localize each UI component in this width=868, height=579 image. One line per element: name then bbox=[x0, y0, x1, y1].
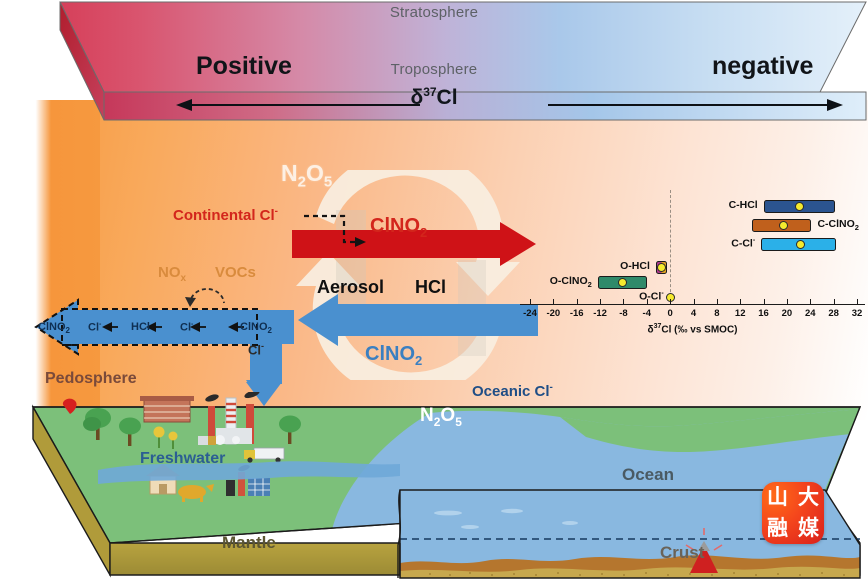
isotope-range-chart: C-HClC-ClNO2C-Cl-O-HClO-ClNO2O-Cl- δ37Cl… bbox=[520, 186, 865, 338]
series-label-c-clno2: C-ClNO2 bbox=[817, 218, 859, 232]
chain-item-clno2-right: ClNO2 bbox=[240, 321, 272, 335]
range-marker-dot bbox=[657, 263, 666, 272]
x-axis-tick bbox=[810, 299, 811, 304]
chain-item-chloride-2: Cl- bbox=[180, 321, 193, 334]
charge-sign: - bbox=[261, 341, 264, 351]
oceanic-chloride-label: Oceanic Cl- bbox=[472, 382, 553, 400]
x-axis-tick bbox=[670, 299, 671, 304]
clno2-text: ClNO bbox=[365, 343, 415, 365]
x-axis-tick bbox=[740, 299, 741, 304]
x-axis-tick bbox=[577, 299, 578, 304]
positive-label: Positive bbox=[196, 52, 292, 81]
aerosol-label: Aerosol bbox=[317, 277, 384, 298]
chain-item-clno2-left: ClNO2 bbox=[38, 321, 70, 335]
n-symbol: N bbox=[281, 160, 298, 186]
x-axis-title: δ37Cl (‰ vs SMOC) bbox=[520, 323, 865, 335]
nox-text: NO bbox=[158, 264, 181, 281]
x-axis-tick bbox=[717, 299, 718, 304]
o-count: 5 bbox=[324, 174, 332, 191]
o-count: 5 bbox=[455, 415, 462, 429]
clno2-count: 2 bbox=[415, 353, 422, 368]
n-symbol: N bbox=[420, 405, 434, 426]
freshwater-label: Freshwater bbox=[140, 450, 225, 468]
land-scenery-icons bbox=[40, 392, 440, 512]
n2o5-atmosphere-label: N2O5 bbox=[281, 160, 332, 191]
nox-label: NOx bbox=[158, 264, 186, 284]
range-marker-dot bbox=[779, 221, 788, 230]
n2o5-ocean-label: N2O5 bbox=[420, 405, 462, 429]
axis-units: Cl (‰ vs SMOC) bbox=[661, 324, 737, 335]
watermark-char-4: 媒 bbox=[798, 518, 819, 539]
watermark-char-1: 山 bbox=[767, 487, 788, 508]
mantle-label: Mantle bbox=[222, 533, 276, 553]
watermark-logo: 山 大 融 媒 bbox=[762, 482, 824, 544]
x-axis-tick bbox=[553, 299, 554, 304]
stratosphere-label: Stratosphere bbox=[0, 4, 868, 21]
clno2-text: ClNO bbox=[370, 215, 420, 237]
x-axis-tick bbox=[623, 299, 624, 304]
series-label-c-cl: C-Cl- bbox=[731, 237, 755, 250]
clno2-red-label: ClNO2 bbox=[370, 215, 427, 240]
delta-mass-number: 37 bbox=[423, 85, 436, 99]
continental-chloride-label: Continental Cl- bbox=[173, 206, 278, 224]
x-axis-tick bbox=[764, 299, 765, 304]
delta-37cl-axis-label: δ37Cl bbox=[0, 85, 868, 110]
clno2-count: 2 bbox=[420, 225, 427, 240]
watermark-char-2: 大 bbox=[798, 487, 819, 508]
x-axis-tick bbox=[530, 299, 531, 304]
x-axis-tick bbox=[857, 299, 858, 304]
x-axis-tick bbox=[647, 299, 648, 304]
ocean-label: Ocean bbox=[622, 465, 674, 485]
chain-item-hcl: HCl bbox=[131, 321, 150, 333]
chart-plot-area: C-HClC-ClNO2C-Cl-O-HClO-ClNO2O-Cl- bbox=[520, 186, 865, 298]
negative-label: negative bbox=[712, 52, 813, 81]
x-axis-tick bbox=[787, 299, 788, 304]
series-label-o-hcl: O-HCl bbox=[620, 260, 650, 272]
continental-text: Continental Cl bbox=[173, 207, 275, 224]
x-axis-tick-label: 32 bbox=[843, 308, 868, 319]
charge-sign: - bbox=[275, 206, 278, 217]
o-symbol: O bbox=[440, 405, 455, 426]
zero-reference-line bbox=[670, 190, 671, 302]
series-label-o-clno2: O-ClNO2 bbox=[550, 275, 592, 289]
delta-symbol: δ bbox=[410, 86, 423, 109]
chain-item-chloride-1: Cl- bbox=[88, 321, 101, 334]
series-label-o-cl: O-Cl- bbox=[639, 290, 664, 303]
charge-sign: - bbox=[550, 382, 553, 393]
oceanic-text: Oceanic Cl bbox=[472, 383, 550, 400]
o-symbol: O bbox=[306, 160, 324, 186]
x-axis-line bbox=[520, 304, 865, 305]
x-axis-tick bbox=[694, 299, 695, 304]
series-label-c-hcl: C-HCl bbox=[729, 199, 758, 211]
watermark-char-3: 融 bbox=[767, 518, 788, 539]
n-count: 2 bbox=[298, 174, 306, 191]
hcl-label: HCl bbox=[415, 277, 446, 298]
delta-element: Cl bbox=[437, 86, 458, 109]
cl-text: Cl bbox=[248, 342, 261, 357]
x-axis-tick bbox=[834, 299, 835, 304]
x-axis-tick bbox=[600, 299, 601, 304]
vocs-label: VOCs bbox=[215, 264, 256, 281]
pedosphere-label: Pedosphere bbox=[45, 370, 137, 388]
clno2-blue-label: ClNO2 bbox=[365, 343, 422, 368]
chloride-deposition-label: Cl- bbox=[248, 341, 264, 357]
clno2-transport-arrow bbox=[292, 290, 542, 350]
figure-canvas: Stratosphere Troposphere Positive negati… bbox=[0, 0, 868, 579]
continental-input-dashed-arrow bbox=[300, 206, 370, 254]
crust-label: Crust bbox=[660, 543, 704, 563]
